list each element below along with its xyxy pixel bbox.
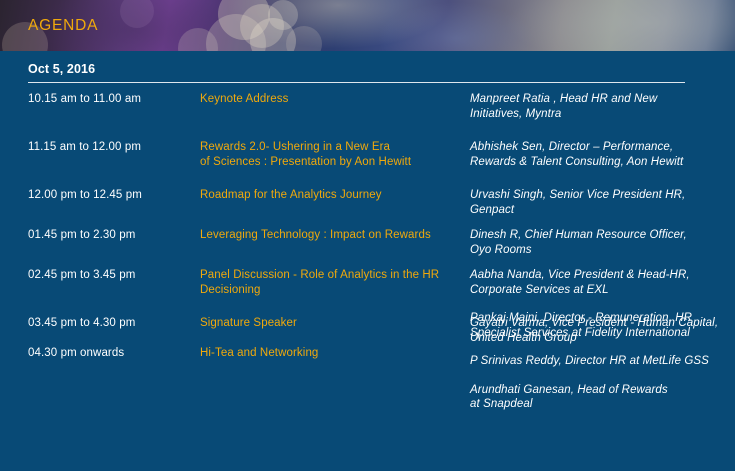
banner-gradient-overlay <box>0 0 735 51</box>
agenda-row-time: 03.45 pm to 4.30 pm <box>28 316 200 331</box>
speaker-entry: Manpreet Ratia , Head HR and New Initiat… <box>470 92 725 121</box>
agenda-row-topic-text: Panel Discussion - Role of Analytics in … <box>200 268 470 298</box>
agenda-row-topic-text: Roadmap for the Analytics Journey <box>200 188 470 203</box>
agenda-row-topic-text: Keynote Address <box>200 92 470 107</box>
agenda-row-topic: Roadmap for the Analytics Journey <box>200 188 470 203</box>
agenda-row-topic-text: Leveraging Technology : Impact on Reward… <box>200 228 470 243</box>
agenda-row-topic: Rewards 2.0- Ushering in a New Era of Sc… <box>200 140 470 170</box>
agenda-row-speakers: Urvashi Singh, Senior Vice President HR,… <box>470 188 735 217</box>
agenda-row-speakers: Dinesh R, Chief Human Resource Officer, … <box>470 228 735 257</box>
banner-image: AGENDA <box>0 0 735 51</box>
date-label: Oct 5, 2016 <box>28 62 685 82</box>
agenda-row-time: 01.45 pm to 2.30 pm <box>28 228 200 243</box>
agenda-row: 04.30 pm onwards Hi-Tea and Networking <box>0 346 735 361</box>
agenda-row-time: 11.15 am to 12.00 pm <box>28 140 200 155</box>
speaker-entry: Arundhati Ganesan, Head of Rewards at Sn… <box>470 383 725 412</box>
agenda-row-topic-text: Hi-Tea and Networking <box>200 346 470 361</box>
agenda-row-time: 10.15 am to 11.00 am <box>28 92 200 107</box>
agenda-row: 03.45 pm to 4.30 pm Signature Speaker Ga… <box>0 316 735 345</box>
agenda-row-topic: Leveraging Technology : Impact on Reward… <box>200 228 470 243</box>
page-title: AGENDA <box>28 17 98 35</box>
date-divider <box>28 82 685 83</box>
speaker-entry: Urvashi Singh, Senior Vice President HR,… <box>470 188 725 217</box>
agenda-row: 01.45 pm to 2.30 pm Leveraging Technolog… <box>0 228 735 257</box>
agenda-row-topic: Panel Discussion - Role of Analytics in … <box>200 268 470 298</box>
agenda-row-time: 02.45 pm to 3.45 pm <box>28 268 200 283</box>
agenda-row-topic-text: Signature Speaker <box>200 316 470 331</box>
agenda-row: 11.15 am to 12.00 pm Rewards 2.0- Usheri… <box>0 140 735 170</box>
agenda-row-speakers: Abhishek Sen, Director – Performance, Re… <box>470 140 735 169</box>
speaker-entry: Dinesh R, Chief Human Resource Officer, … <box>470 228 725 257</box>
bokeh-circle-icon <box>268 0 298 30</box>
agenda-row-topic-text: Rewards 2.0- Ushering in a New Era of Sc… <box>200 140 470 170</box>
speaker-entry: Gayatri Varma, Vice President - Human Ca… <box>470 316 725 345</box>
agenda-row-time: 12.00 pm to 12.45 pm <box>28 188 200 203</box>
agenda-page: AGENDA Oct 5, 2016 10.15 am to 11.00 am … <box>0 0 735 471</box>
agenda-row-topic: Keynote Address <box>200 92 470 107</box>
speaker-entry: Aabha Nanda, Vice President & Head-HR, C… <box>470 268 725 297</box>
agenda-row-speakers: Manpreet Ratia , Head HR and New Initiat… <box>470 92 735 121</box>
agenda-row-topic: Hi-Tea and Networking <box>200 346 470 361</box>
agenda-row-speakers: Gayatri Varma, Vice President - Human Ca… <box>470 316 735 345</box>
agenda-row-topic: Signature Speaker <box>200 316 470 331</box>
agenda-row: 12.00 pm to 12.45 pm Roadmap for the Ana… <box>0 188 735 217</box>
agenda-row-time: 04.30 pm onwards <box>28 346 200 361</box>
date-header: Oct 5, 2016 <box>28 62 685 83</box>
agenda-row: 10.15 am to 11.00 am Keynote Address Man… <box>0 92 735 121</box>
speaker-entry: Abhishek Sen, Director – Performance, Re… <box>470 140 725 169</box>
